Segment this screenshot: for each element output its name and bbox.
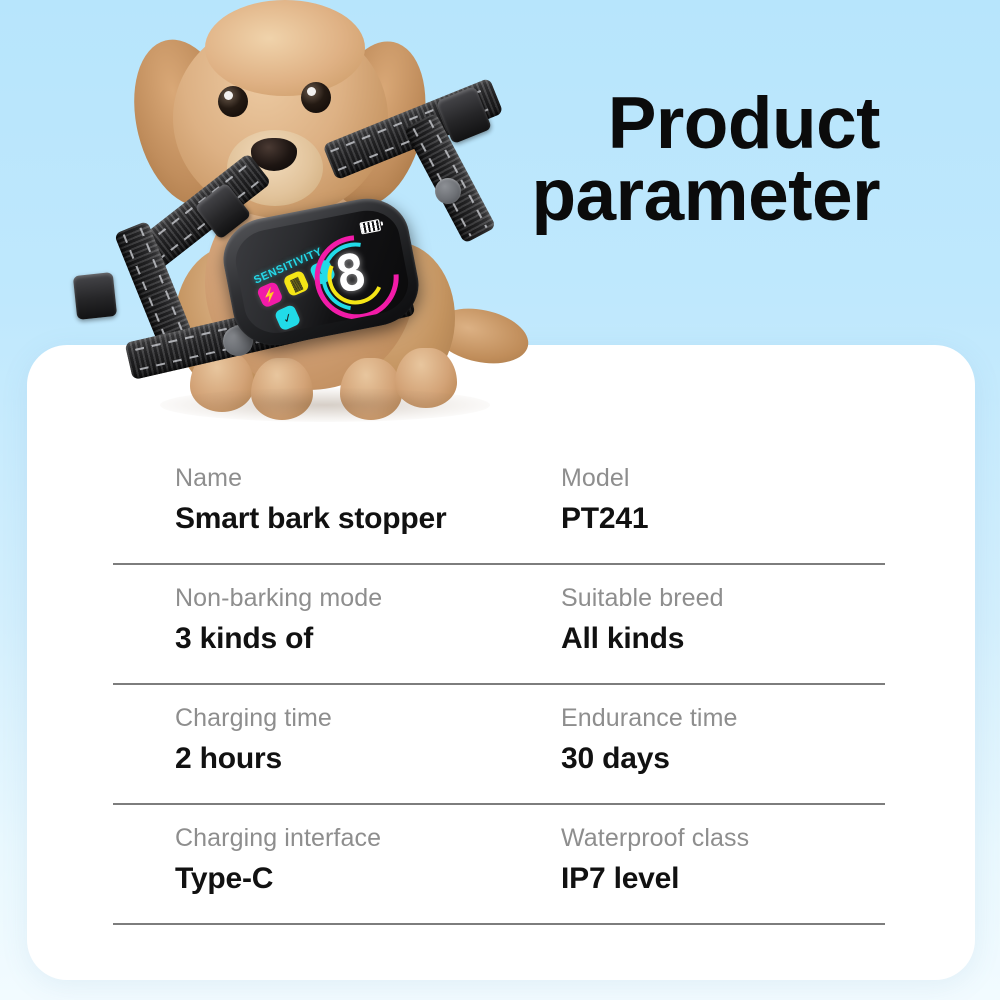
spec-label: Model bbox=[561, 463, 885, 494]
dog-topknot bbox=[205, 0, 365, 96]
spec-row: Charging interfaceType-CWaterproof class… bbox=[113, 805, 885, 925]
spec-value: All kinds bbox=[561, 621, 885, 658]
spec-cell-left: Charging time2 hours bbox=[113, 685, 499, 803]
vibration-mode-icon: ▓ bbox=[282, 270, 310, 298]
spec-row: NameSmart bark stopperModelPT241 bbox=[113, 445, 885, 565]
spec-value: 2 hours bbox=[175, 741, 499, 778]
spec-cell-left: NameSmart bark stopper bbox=[113, 445, 499, 563]
spec-cell-right: Waterproof classIP7 level bbox=[499, 805, 885, 923]
spec-table: NameSmart bark stopperModelPT241Non-bark… bbox=[113, 445, 885, 925]
spec-row: Charging time2 hoursEndurance time30 day… bbox=[113, 685, 885, 805]
safe-mode-icon: ✓ bbox=[274, 304, 302, 332]
dog-shadow bbox=[160, 388, 490, 422]
spec-cell-left: Non-barking mode3 kinds of bbox=[113, 565, 499, 683]
spec-label: Charging interface bbox=[175, 823, 499, 854]
spec-label: Charging time bbox=[175, 703, 499, 734]
spec-value: PT241 bbox=[561, 501, 885, 538]
spec-label: Non-barking mode bbox=[175, 583, 499, 614]
page-title-line-1: Product bbox=[360, 88, 880, 160]
sensitivity-arc-gauge: 8 bbox=[307, 229, 398, 320]
page-title: Product parameter bbox=[360, 88, 880, 231]
spec-card: NameSmart bark stopperModelPT241Non-bark… bbox=[27, 345, 975, 980]
spec-value: IP7 level bbox=[561, 861, 885, 898]
page-title-line-2: parameter bbox=[360, 160, 880, 232]
spec-cell-left: Charging interfaceType-C bbox=[113, 805, 499, 923]
spec-label: Suitable breed bbox=[561, 583, 885, 614]
spec-cell-right: Endurance time30 days bbox=[499, 685, 885, 803]
spec-label: Waterproof class bbox=[561, 823, 885, 854]
spec-cell-right: Suitable breedAll kinds bbox=[499, 565, 885, 683]
spec-value: Type-C bbox=[175, 861, 499, 898]
dog-eye-right bbox=[301, 82, 331, 113]
spec-label: Name bbox=[175, 463, 499, 494]
dog-eye-left bbox=[218, 86, 248, 117]
spec-value: Smart bark stopper bbox=[175, 501, 499, 538]
spec-value: 3 kinds of bbox=[175, 621, 499, 658]
spec-label: Endurance time bbox=[561, 703, 885, 734]
product-parameter-page: Product parameter NameSmart bark stopper… bbox=[0, 0, 1000, 1000]
spec-row: Non-barking mode3 kinds ofSuitable breed… bbox=[113, 565, 885, 685]
spec-value: 30 days bbox=[561, 741, 885, 778]
collar-buckle bbox=[73, 272, 117, 320]
spec-cell-right: ModelPT241 bbox=[499, 445, 885, 563]
